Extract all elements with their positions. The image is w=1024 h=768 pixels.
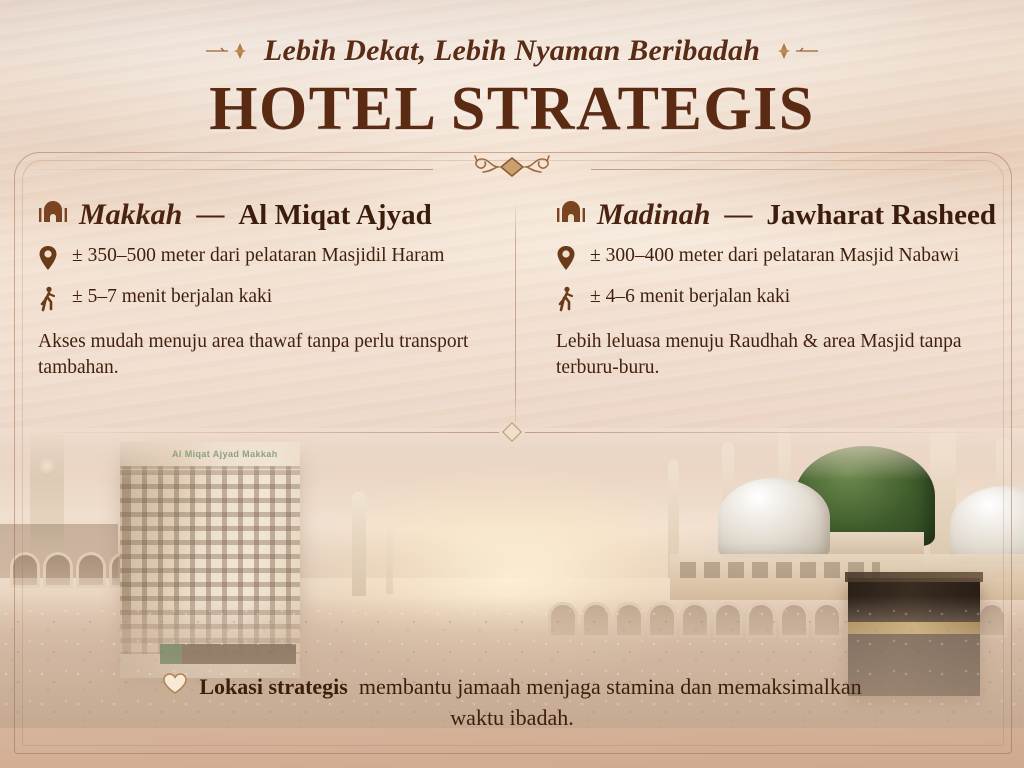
map-pin-icon (556, 245, 578, 276)
column-makkah: Makkah — Al Miqat Ajyad ± 350–500 meter … (38, 198, 483, 381)
madinah-dash: — (724, 199, 752, 231)
makkah-dash: — (196, 199, 224, 231)
sparkle-diamond-icon (204, 39, 250, 63)
walking-person-icon (38, 286, 60, 317)
makkah-hotel-name: Al Miqat Ajyad (238, 199, 431, 232)
divider-rule-left (0, 169, 433, 170)
madinah-walk-fact: ± 4–6 menit berjalan kaki (556, 284, 1001, 317)
column-madinah: Madinah — Jawharat Rasheed ± 300–400 met… (556, 198, 1001, 381)
walking-person-icon (556, 286, 578, 317)
map-pin-icon (38, 245, 60, 276)
page-title: HOTEL STRATEGIS (0, 74, 1024, 145)
madinah-distance-text: ± 300–400 meter dari pelataran Masjid Na… (590, 243, 959, 268)
arch (76, 552, 106, 588)
photo-top-ornament-line (18, 426, 1006, 438)
makkah-note: Akses mudah menuju area thawaf tanpa per… (38, 329, 483, 381)
makkah-distance-fact: ± 350–500 meter dari pelataran Masjidil … (38, 243, 483, 276)
footer-emphasis: Lokasi strategis (199, 674, 348, 700)
arch (10, 552, 40, 588)
mosque-icon (38, 200, 68, 231)
footer-banner: Lokasi strategis membantu jamaah menjaga… (0, 672, 1024, 731)
makkah-walk-fact: ± 5–7 menit berjalan kaki (38, 284, 483, 317)
makkah-walk-text: ± 5–7 menit berjalan kaki (72, 284, 272, 309)
makkah-city-name: Makkah (79, 198, 182, 232)
footer-rest: membantu jamaah menjaga stamina dan mema… (359, 674, 862, 700)
madinah-distance-fact: ± 300–400 meter dari pelataran Masjid Na… (556, 243, 1001, 276)
divider-rule-right (591, 169, 1024, 170)
hotel-columns: Makkah — Al Miqat Ajyad ± 350–500 meter … (0, 198, 1024, 438)
footer-line-1: Lokasi strategis membantu jamaah menjaga… (0, 672, 1024, 702)
madinah-note: Lebih leluasa menuju Raudhah & area Masj… (556, 329, 1001, 381)
madinah-walk-text: ± 4–6 menit berjalan kaki (590, 284, 790, 309)
arch (43, 552, 73, 588)
ornament-rule-left (18, 432, 499, 433)
haram-minaret (352, 492, 366, 596)
madinah-heading: Madinah — Jawharat Rasheed (556, 198, 1001, 232)
kaaba-top-edge (845, 572, 983, 582)
arabesque-divider-ornament (437, 152, 587, 187)
tagline-row: Lebih Dekat, Lebih Nyaman Beribadah (0, 34, 1024, 68)
poster-canvas: Al Miqat Ajyad Makkah (0, 0, 1024, 768)
mosque-icon (556, 200, 586, 231)
footer-line-2: waktu ibadah. (0, 705, 1024, 731)
haram-minaret-secondary (386, 522, 393, 594)
makkah-heading: Makkah — Al Miqat Ajyad (38, 198, 483, 232)
sparkle-diamond-icon (774, 39, 820, 63)
white-dome-left (718, 478, 830, 558)
madinah-hotel-name: Jawharat Rasheed (766, 199, 996, 232)
header-divider (0, 152, 1024, 186)
ornament-rule-right (525, 432, 1006, 433)
madinah-city-name: Madinah (597, 198, 710, 232)
heart-icon (162, 672, 188, 702)
makkah-distance-text: ± 350–500 meter dari pelataran Masjidil … (72, 243, 444, 268)
tagline-text: Lebih Dekat, Lebih Nyaman Beribadah (264, 34, 760, 68)
